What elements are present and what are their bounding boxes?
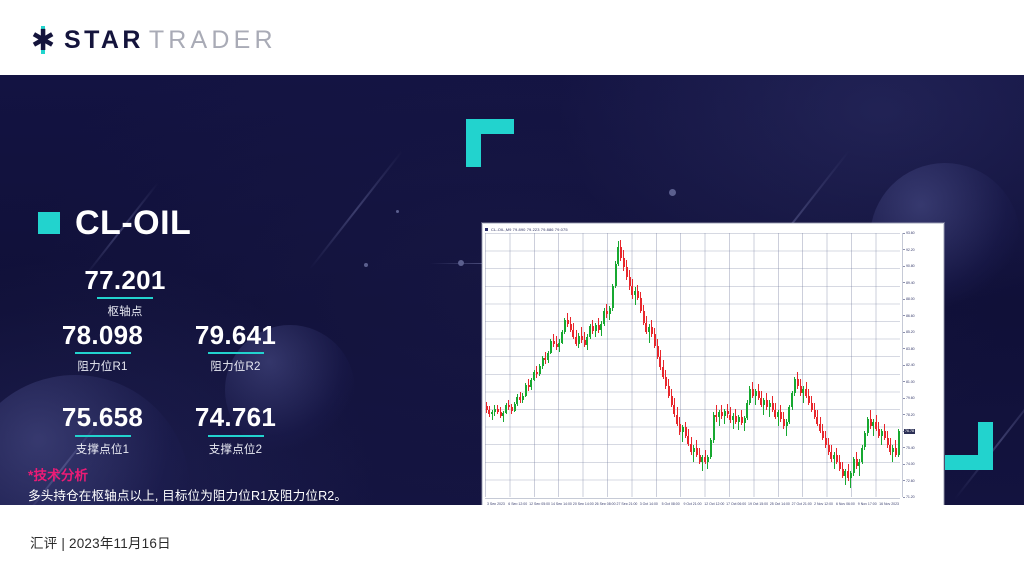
candlestick [600, 233, 602, 497]
candlestick [631, 233, 633, 497]
instrument-title-row: CL-OIL [38, 206, 191, 240]
decor-dot-2 [396, 210, 399, 213]
candlestick [659, 233, 661, 497]
resistance1-label: 阻力位R1 [36, 358, 169, 374]
candlestick [729, 233, 731, 497]
candlestick [769, 233, 771, 497]
candlestick [760, 233, 762, 497]
candlestick [617, 233, 619, 497]
candlestick [516, 233, 518, 497]
candlestick [853, 233, 855, 497]
candlestick [676, 233, 678, 497]
candlestick [609, 233, 611, 497]
brand-name-bold: STAR [64, 28, 144, 53]
candlestick [693, 233, 695, 497]
candlestick [783, 233, 785, 497]
support2-label: 支撑点位2 [169, 441, 302, 457]
decor-dot-3 [364, 263, 368, 267]
candlestick [741, 233, 743, 497]
candlestick [640, 233, 642, 497]
candlestick [629, 233, 631, 497]
price-axis-tick: 72.60 [906, 479, 915, 483]
candlestick [828, 233, 830, 497]
candlestick [539, 233, 541, 497]
candlestick [530, 233, 532, 497]
corner-bracket-top-left-v [466, 119, 481, 167]
technical-analysis-heading: *技术分析 [28, 464, 400, 484]
chart-header: CL-OIL,M9 79.890 79.223 79.886 79.075 [485, 225, 568, 233]
candlestick [763, 233, 765, 497]
price-axis-tick: 82.40 [906, 363, 915, 367]
price-axis-tick: 85.20 [906, 330, 915, 334]
chart-plot-area [485, 233, 900, 497]
page-title: CL-OIL [75, 206, 191, 240]
candlestick [864, 233, 866, 497]
price-chart[interactable]: CL-OIL,M9 79.890 79.223 79.886 79.075 93… [482, 223, 944, 505]
candlestick [696, 233, 698, 497]
candlestick [825, 233, 827, 497]
candlestick [786, 233, 788, 497]
price-axis-tick: 79.60 [906, 396, 915, 400]
candlestick [895, 233, 897, 497]
support1-label: 支撑点位1 [36, 441, 169, 457]
candlestick [839, 233, 841, 497]
candlestick [536, 233, 538, 497]
candlestick [673, 233, 675, 497]
candlestick [645, 233, 647, 497]
candlestick [626, 233, 628, 497]
candlestick [887, 233, 889, 497]
candlestick [727, 233, 729, 497]
candlestick [732, 233, 734, 497]
pivot-value: 77.201 [55, 267, 195, 294]
support-row: 75.658 支撑点位1 74.761 支撑点位2 [36, 404, 302, 468]
price-axis-tick: 93.60 [906, 231, 915, 235]
logo-accent-square-bottom [41, 50, 45, 54]
candlestick [598, 233, 600, 497]
price-axis-tick: 89.40 [906, 281, 915, 285]
resistance2-label: 阻力位R2 [169, 358, 302, 374]
candlestick [707, 233, 709, 497]
candlestick [791, 233, 793, 497]
candlestick [514, 233, 516, 497]
candlestick [752, 233, 754, 497]
candlestick [505, 233, 507, 497]
candlestick [816, 233, 818, 497]
price-axis-tick: 71.20 [906, 495, 915, 499]
candlestick [525, 233, 527, 497]
candlestick [679, 233, 681, 497]
support1-underline [75, 435, 131, 437]
candlestick [682, 233, 684, 497]
analysis-line-1: 多头持仓在枢轴点以上, 目标位为阻力位R1及阻力位R2。 [28, 487, 400, 505]
candlestick [715, 233, 717, 497]
price-axis-tick: 83.80 [906, 347, 915, 351]
resistance2-value: 79.641 [169, 322, 302, 349]
candlestick [856, 233, 858, 497]
candlestick [522, 233, 524, 497]
candlestick [620, 233, 622, 497]
candlestick [584, 233, 586, 497]
candlestick [665, 233, 667, 497]
candlestick [558, 233, 560, 497]
price-axis-tick: 75.40 [906, 446, 915, 450]
candlestick [811, 233, 813, 497]
candlestick [654, 233, 656, 497]
candlestick [744, 233, 746, 497]
candlestick [528, 233, 530, 497]
chart-header-marker-icon [485, 228, 488, 231]
candlestick [497, 233, 499, 497]
levels-grid: 78.098 阻力位R1 79.641 阻力位R2 75.658 支撑点位1 [36, 322, 302, 469]
candlestick [788, 233, 790, 497]
candlestick [889, 233, 891, 497]
candlestick [797, 233, 799, 497]
candlestick [612, 233, 614, 497]
candlestick [870, 233, 872, 497]
price-axis-tick: 92.20 [906, 248, 915, 252]
candlestick [575, 233, 577, 497]
candlestick [690, 233, 692, 497]
candlestick [884, 233, 886, 497]
candlestick [822, 233, 824, 497]
startrader-market-card: ✱ STAR TRADER CL-OIL 77.201 [0, 0, 1024, 576]
candlestick [671, 233, 673, 497]
candlestick [547, 233, 549, 497]
candlestick [606, 233, 608, 497]
candlestick [735, 233, 737, 497]
resistance1-underline [75, 352, 131, 354]
candlestick [881, 233, 883, 497]
resistance2-underline [208, 352, 264, 354]
price-axis-tick: 81.00 [906, 380, 915, 384]
candlestick [844, 233, 846, 497]
candlestick [699, 233, 701, 497]
candlestick [892, 233, 894, 497]
brand-logo: ✱ STAR TRADER [29, 26, 277, 54]
candlestick [687, 233, 689, 497]
resistance-row: 78.098 阻力位R1 79.641 阻力位R2 [36, 322, 302, 386]
candlestick [814, 233, 816, 497]
candlestick [637, 233, 639, 497]
candlestick [777, 233, 779, 497]
resistance2-block: 79.641 阻力位R2 [169, 322, 302, 374]
asterisk-logo-icon: ✱ [29, 26, 57, 54]
candlestick [878, 233, 880, 497]
candlestick [494, 233, 496, 497]
brand-name-light: TRADER [149, 28, 277, 53]
candlestick [648, 233, 650, 497]
candlestick [595, 233, 597, 497]
candlestick [808, 233, 810, 497]
decor-dot-4 [669, 189, 676, 196]
candlestick [564, 233, 566, 497]
candlestick [758, 233, 760, 497]
candlestick [850, 233, 852, 497]
candlestick [556, 233, 558, 497]
candlestick [500, 233, 502, 497]
price-axis-tick: 78.20 [906, 413, 915, 417]
last-price-tag: 76.78 [904, 429, 915, 434]
candlestick [581, 233, 583, 497]
support1-value: 75.658 [36, 404, 169, 431]
price-axis-tick: 90.80 [906, 264, 915, 268]
footer-bar: 汇评 | 2023年11月16日 [0, 505, 1024, 576]
footer-text: 汇评 | 2023年11月16日 [30, 532, 171, 552]
candlestick [819, 233, 821, 497]
candlestick [572, 233, 574, 497]
candlestick [502, 233, 504, 497]
candlestick [589, 233, 591, 497]
candlestick [704, 233, 706, 497]
price-axis-tick: 74.00 [906, 462, 915, 466]
candlestick [898, 233, 900, 497]
logo-asterisk-glyph: ✱ [29, 29, 57, 51]
candlestick [794, 233, 796, 497]
candlestick [486, 233, 488, 497]
candlestick [774, 233, 776, 497]
candlestick [738, 233, 740, 497]
header-bar: ✱ STAR TRADER [0, 0, 1024, 75]
candlestick [592, 233, 594, 497]
candlestick [550, 233, 552, 497]
candlestick [586, 233, 588, 497]
candlestick [875, 233, 877, 497]
candlestick [724, 233, 726, 497]
pivot-underline [97, 297, 153, 299]
decor-dot-1 [458, 260, 464, 266]
candlestick [721, 233, 723, 497]
pivot-block: 77.201 枢轴点 [55, 267, 195, 319]
candlestick [749, 233, 751, 497]
candlestick [772, 233, 774, 497]
candlestick [634, 233, 636, 497]
candlestick [561, 233, 563, 497]
price-axis-tick: 88.00 [906, 297, 915, 301]
candlestick [615, 233, 617, 497]
candlestick [519, 233, 521, 497]
candlestick [508, 233, 510, 497]
candlestick [657, 233, 659, 497]
resistance1-value: 78.098 [36, 322, 169, 349]
candlestick [662, 233, 664, 497]
resistance1-block: 78.098 阻力位R1 [36, 322, 169, 374]
candlestick [836, 233, 838, 497]
candlestick [491, 233, 493, 497]
candlestick [858, 233, 860, 497]
candlestick [746, 233, 748, 497]
candlestick [713, 233, 715, 497]
candlestick [872, 233, 874, 497]
candlestick [511, 233, 513, 497]
candlestick [570, 233, 572, 497]
candlestick [805, 233, 807, 497]
candlestick [867, 233, 869, 497]
corner-bracket-bottom-right-v [978, 422, 993, 470]
candlestick [553, 233, 555, 497]
candlestick [533, 233, 535, 497]
candlestick [578, 233, 580, 497]
candlestick [780, 233, 782, 497]
candlestick [685, 233, 687, 497]
technical-analysis-body: 多头持仓在枢轴点以上, 目标位为阻力位R1及阻力位R2。 若低于枢轴点, 则可能… [28, 487, 400, 505]
candlestick [488, 233, 490, 497]
support2-underline [208, 435, 264, 437]
technical-analysis: *技术分析 多头持仓在枢轴点以上, 目标位为阻力位R1及阻力位R2。 若低于枢轴… [28, 464, 400, 505]
candlestick [802, 233, 804, 497]
support1-block: 75.658 支撑点位1 [36, 404, 169, 456]
candlestick [542, 233, 544, 497]
price-axis-tick: 86.60 [906, 314, 915, 318]
candlestick [643, 233, 645, 497]
candlestick [567, 233, 569, 497]
candlestick [847, 233, 849, 497]
support2-block: 74.761 支撑点位2 [169, 404, 302, 456]
candlestick [830, 233, 832, 497]
candlestick [623, 233, 625, 497]
candlestick [718, 233, 720, 497]
candlestick [710, 233, 712, 497]
main-panel: CL-OIL 77.201 枢轴点 78.098 阻力位R1 79.641 阻力… [0, 75, 1024, 505]
candlestick [668, 233, 670, 497]
support2-value: 74.761 [169, 404, 302, 431]
candlestick [861, 233, 863, 497]
candlestick [603, 233, 605, 497]
candlestick [701, 233, 703, 497]
candlestick [800, 233, 802, 497]
candlestick [766, 233, 768, 497]
chart-time-axis: 3 Sep 20236 Sep 12:0012 Sep 05:0014 Sep … [485, 498, 900, 505]
chart-price-axis: 93.6092.2090.8089.4088.0086.6085.2083.80… [902, 233, 943, 497]
candlestick [544, 233, 546, 497]
candlestick [755, 233, 757, 497]
candlestick [833, 233, 835, 497]
candlestick [842, 233, 844, 497]
chart-header-title: CL-OIL,M9 79.890 79.223 79.886 79.075 [491, 227, 568, 232]
pivot-label: 枢轴点 [55, 303, 195, 319]
candlestick [651, 233, 653, 497]
title-bullet-square [38, 212, 60, 234]
